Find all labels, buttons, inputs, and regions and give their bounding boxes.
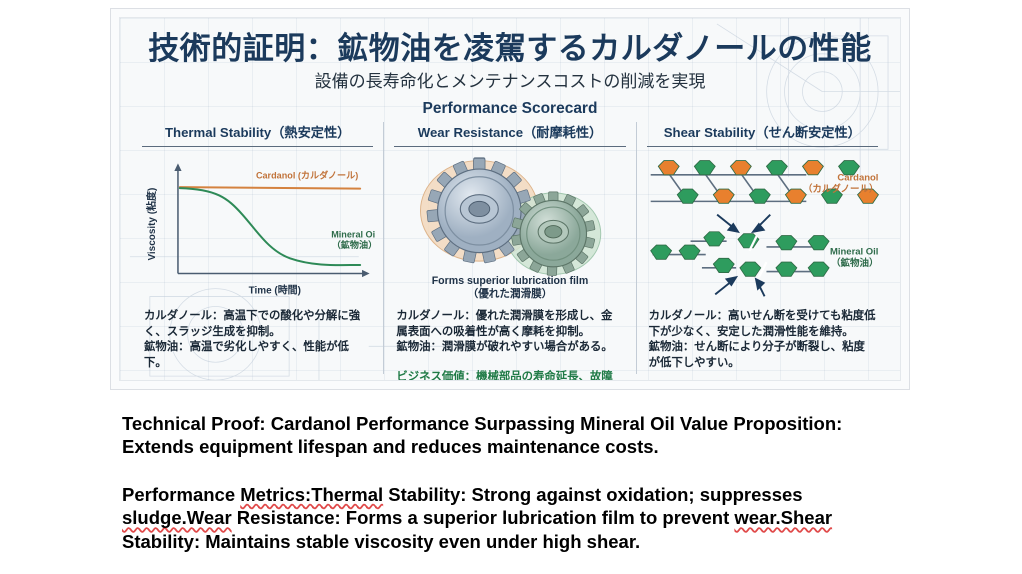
scorecard-columns: Thermal Stability（熱安定性） [132,122,888,374]
column-wear-resistance: Wear Resistance（耐摩耗性） [383,122,635,374]
page-title: 技術的証明：鉱物油を凌駕するカルダノールの性能 [120,32,900,67]
column-header-shear: Shear Stability（せん断安定性） [647,122,878,147]
chart-legend-mineral-oil-ja: （鉱物油） [332,239,376,250]
y-axis-arrow-icon [174,163,181,171]
page-subtitle: 設備の長寿命化とメンテナンスコストの削減を実現 [120,72,900,92]
scorecard-label: Performance Scorecard [120,100,900,118]
caption-block: Technical Proof: Cardanol Performance Su… [122,412,912,553]
caption-paragraph-1: Technical Proof: Cardanol Performance Su… [122,412,912,459]
column-header-thermal: Thermal Stability（熱安定性） [142,122,373,147]
column-body-wear: カルダノール：優れた潤滑膜を形成し、金属表面への吸着性が高く摩耗を抑制。 鉱物油… [392,309,627,381]
viscosity-vs-time-line-chart: Viscosity (粘度) Time (時間) Cardanol (カルダノー… [140,151,375,303]
chart-legend-cardanol: Cardanol (カルダノール) [256,170,358,181]
column-shear-stability: Shear Stability（せん断安定性） [636,122,888,374]
molecule-label-mineral-ja: （鉱物油） [831,257,878,269]
gears-caption-ja: （優れた潤滑膜） [468,288,553,300]
gears-caption: Forms superior lubrication film （優れた潤滑膜） [392,275,627,301]
caption-paragraph-2: Performance Metrics:Thermal Stability: S… [122,483,912,553]
x-axis-arrow-icon [362,270,370,277]
shear-stability-illustration: Cardanol （カルダノール） Mineral Oil （鉱物油） [645,151,880,303]
molecule-label-cardanol-en: Cardanol [837,173,878,184]
mineral-oil-viscosity-curve [180,188,360,265]
spellcheck-error-text: Metrics:Thermal [240,484,383,505]
gears-caption-en: Forms superior lubrication film [432,275,589,287]
column-body-shear: カルダノール：高いせん断を受けても粘度低下が少なく、安定した潤滑性能を維持。 鉱… [645,309,880,381]
shear-force-arrows-icon [715,215,770,297]
column-thermal-stability: Thermal Stability（熱安定性） [132,122,383,374]
molecule-label-cardanol-ja: （カルダノール） [803,183,878,195]
column-header-wear: Wear Resistance（耐摩耗性） [394,122,625,147]
wear-business-value: ビジネス価値：機械部品の寿命延長、故障率の低減。 [396,370,623,381]
thermal-stability-chart: Viscosity (粘度) Time (時間) Cardanol (カルダノー… [140,151,375,303]
mineral-oil-broken-chain [650,215,828,297]
molecular-chain-diagram: Cardanol （カルダノール） Mineral Oil （鉱物油） [645,151,880,303]
wear-resistance-illustration: Forms superior lubrication film （優れた潤滑膜） [392,151,627,303]
chart-x-axis-label: Time (時間) [249,283,301,296]
column-body-thermal: カルダノール：高温下での酸化や分解に強く、スラッジ生成を抑制。 鉱物油：高温で劣… [140,309,375,381]
shear-description: カルダノール：高いせん断を受けても粘度低下が少なく、安定した潤滑性能を維持。 鉱… [649,309,876,372]
chart-y-axis-label: Viscosity (粘度) [145,188,158,261]
wear-description: カルダノール：優れた潤滑膜を形成し、金属表面への吸着性が高く摩耗を抑制。 鉱物油… [396,309,623,356]
cardanol-viscosity-line [180,187,360,188]
chart-legend-mineral-oil: Mineral Oil [331,229,375,239]
spellcheck-error-text: wear.Shear [734,507,832,528]
thermal-description: カルダノール：高温下での酸化や分解に強く、スラッジ生成を抑制。 鉱物油：高温で劣… [144,309,371,372]
slide-header: 技術的証明：鉱物油を凌駕するカルダノールの性能 設備の長寿命化とメンテナンスコス… [120,32,900,118]
molecule-label-mineral-en: Mineral Oil [830,247,878,258]
slide-canvas: 技術的証明：鉱物油を凌駕するカルダノールの性能 設備の長寿命化とメンテナンスコス… [119,17,901,381]
spellcheck-error-text: sludge.Wear [122,507,232,528]
slide-panel: 技術的証明：鉱物油を凌駕するカルダノールの性能 設備の長寿命化とメンテナンスコス… [110,8,910,390]
